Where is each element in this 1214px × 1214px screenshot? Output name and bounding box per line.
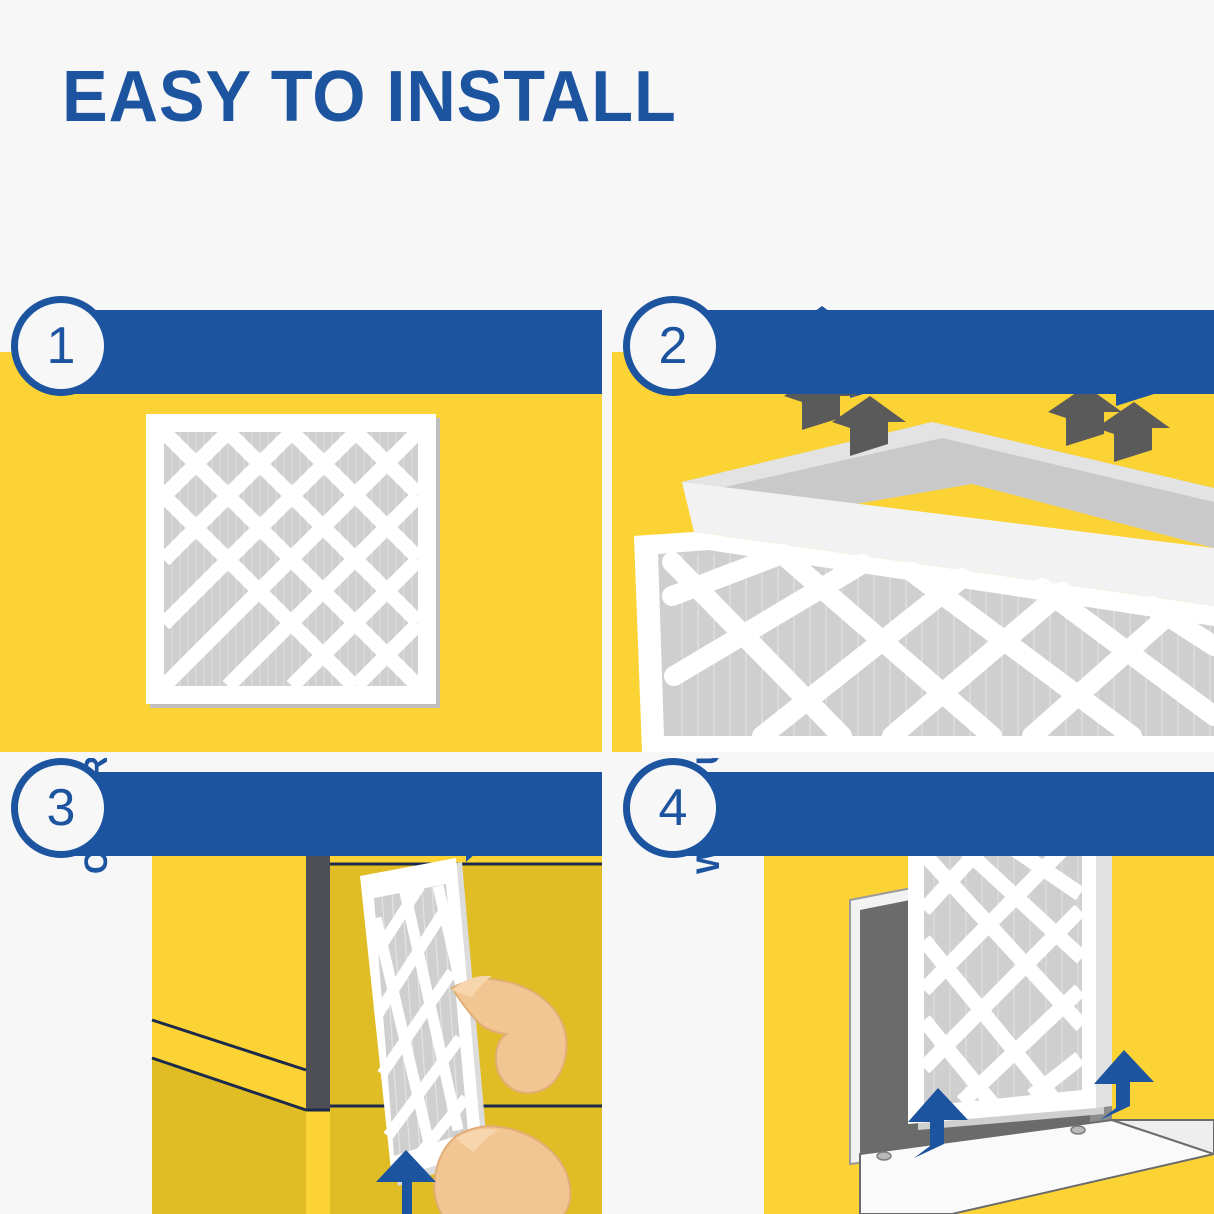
page-title: EASY TO INSTALL [62, 56, 677, 138]
step-panel-1: Unpack 1 [0, 296, 602, 752]
step-panel-4: Slide in slot 4 WALL UNIT [612, 758, 1214, 1214]
step-3-number: 3 [47, 782, 76, 834]
air-filter-icon [146, 414, 440, 708]
step-2-number: 2 [659, 320, 688, 372]
step-1-badge: 1 [11, 296, 111, 396]
step-1-header-bar [64, 310, 602, 394]
step-panel-2: Follow arrow 2 [612, 296, 1214, 752]
step-3-badge: 3 [11, 758, 111, 858]
step-4-badge: 4 [623, 758, 723, 858]
infographic-page: EASY TO INSTALL [0, 0, 1214, 1214]
step-panel-3: Slide in slot 3 CENTRAL UNIT [0, 758, 602, 1214]
step-4-number: 4 [659, 782, 688, 834]
step-1-number: 1 [47, 320, 76, 372]
step-3-header-bar [64, 772, 602, 856]
steps-grid: Unpack 1 [0, 296, 1214, 1214]
step-4-header-bar [676, 772, 1214, 856]
step-2-badge: 2 [623, 296, 723, 396]
step-2-header-bar [676, 310, 1214, 394]
